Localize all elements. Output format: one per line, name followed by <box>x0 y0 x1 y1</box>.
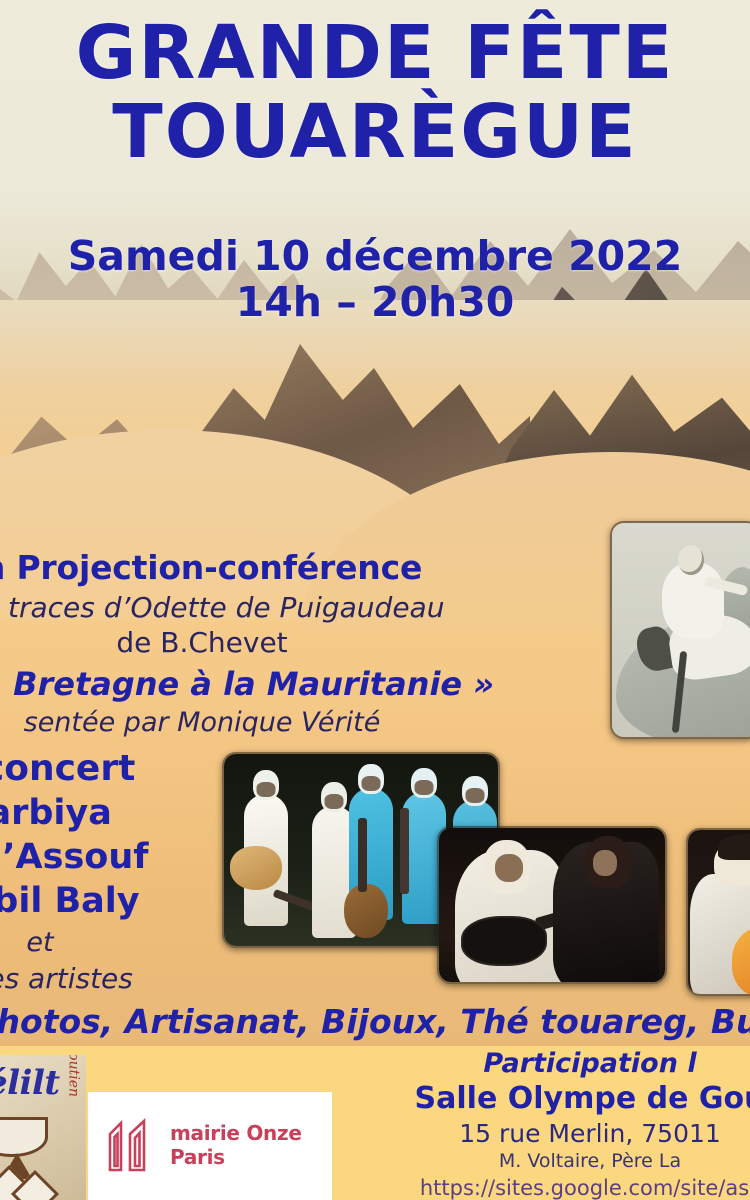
poster-canvas: GRANDE FÊTE TOUARÈGUE Samedi 10 décembre… <box>0 0 750 1200</box>
photo-stage-duo <box>437 826 667 984</box>
eleven-monogram-icon <box>104 1116 156 1176</box>
mairie-label-line1: mairie Onze <box>170 1122 302 1146</box>
venue-block: Participation l Salle Olympe de Gou 15 r… <box>330 1048 750 1200</box>
photo-musician-right <box>686 828 750 996</box>
concert-artist-2: ri N’Assouf <box>0 837 230 877</box>
conference-film-title: De la Bretagne à la Mauritanie » <box>0 665 522 703</box>
concert-heading: h concert <box>0 748 230 789</box>
concert-block: h concert Tarbiya ri N’Assouf Nabil Baly… <box>0 748 230 995</box>
conference-heading: h Projection-conférence <box>0 548 522 587</box>
activities-line: hotos, Artisanat, Bijoux, Thé touareg, B… <box>0 1002 750 1041</box>
mairie-label-line2: Paris <box>170 1146 302 1170</box>
musician-face <box>466 788 485 803</box>
event-time: 14h – 20h30 <box>0 280 750 325</box>
mairie-onze-paris-logo: mairie Onze Paris <box>88 1092 332 1200</box>
concert-artist-1: Tarbiya <box>0 793 230 833</box>
duo-singer-face <box>593 850 617 876</box>
venue-address: 15 rue Merlin, 75011 <box>330 1119 750 1148</box>
guitar-body-1 <box>230 846 282 890</box>
title-line-1: GRANDE FÊTE <box>0 16 750 91</box>
photo-camel-rider <box>610 521 750 739</box>
association-logo: élilt aide & soutien <box>0 1055 86 1200</box>
event-date: Samedi 10 décembre 2022 <box>0 234 750 278</box>
rider-head <box>678 545 704 575</box>
musician-face <box>257 782 276 797</box>
event-datetime: Samedi 10 décembre 2022 14h – 20h30 <box>0 234 750 325</box>
concert-other-artists: utres artistes <box>0 962 230 995</box>
association-tagline: aide & soutien <box>65 1055 81 1097</box>
concert-artist-3: Nabil Baly <box>0 881 230 921</box>
title-line-2: TOUARÈGUE <box>0 95 750 170</box>
guitar-body-2 <box>344 884 388 938</box>
participation-note: Participation l <box>330 1048 750 1079</box>
concert-conjunction: et <box>0 927 230 958</box>
conference-presenter: sentée par Monique Vérité <box>0 707 522 738</box>
venue-website-link[interactable]: https://sites.google.com/site/ass <box>330 1176 750 1200</box>
duo-guitarist-face <box>495 854 523 882</box>
conference-subtitle: les traces d’Odette de Puigaudeau <box>0 591 522 624</box>
venue-hall: Salle Olympe de Gou <box>330 1081 750 1116</box>
conference-author: de B.Chevet <box>0 626 522 659</box>
musician-face <box>325 794 344 809</box>
guitar-neck-2 <box>358 818 367 892</box>
musician-face <box>415 780 434 795</box>
venue-transport: M. Voltaire, Père La <box>330 1150 750 1172</box>
tuareg-motif-bowl-icon <box>0 1117 48 1157</box>
duo-guitar-body <box>461 916 547 966</box>
conference-block: h Projection-conférence les traces d’Ode… <box>0 548 522 738</box>
mairie-label: mairie Onze Paris <box>170 1122 302 1169</box>
musician-face <box>362 776 381 791</box>
association-name: élilt <box>0 1063 60 1103</box>
instrument-neck-3 <box>400 808 409 894</box>
page-title: GRANDE FÊTE TOUARÈGUE <box>0 16 750 171</box>
